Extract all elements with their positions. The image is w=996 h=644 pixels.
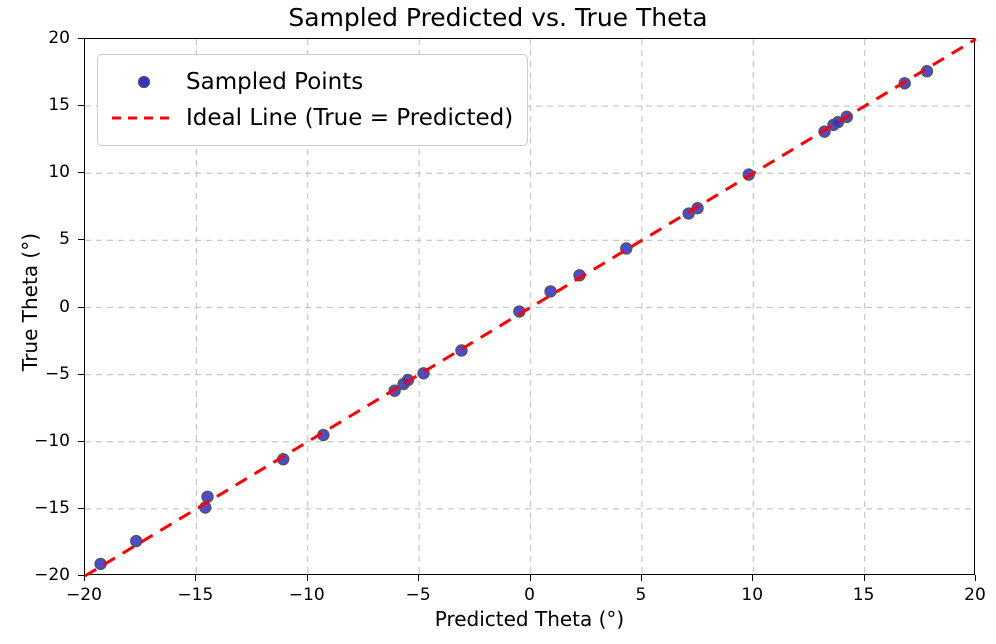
x-tick-label: −10: [289, 585, 325, 605]
x-tick-label: 10: [741, 585, 763, 605]
x-axis-label: Predicted Theta (°): [84, 607, 975, 631]
x-tick-label: 20: [964, 585, 986, 605]
data-point: [545, 286, 556, 297]
legend-item-sampled-points[interactable]: Sampled Points: [108, 64, 513, 100]
y-tick-mark: [78, 575, 84, 576]
chart-figure: Sampled Predicted vs. True Theta True Th…: [0, 0, 996, 644]
chart-legend[interactable]: Sampled Points Ideal Line (True = Predic…: [97, 54, 528, 146]
chart-title: Sampled Predicted vs. True Theta: [0, 3, 996, 32]
y-tick-label: −10: [18, 431, 70, 451]
legend-item-ideal-line[interactable]: Ideal Line (True = Predicted): [108, 100, 513, 136]
x-tick-label: 0: [524, 585, 535, 605]
x-tick-label: 5: [635, 585, 646, 605]
legend-label-ideal-line: Ideal Line (True = Predicted): [180, 105, 513, 131]
legend-label-sampled-points: Sampled Points: [180, 69, 363, 95]
y-tick-label: −20: [18, 565, 70, 585]
legend-dashed-line-icon: [108, 111, 180, 125]
y-tick-label: −15: [18, 498, 70, 518]
y-tick-label: 5: [18, 229, 70, 249]
x-tick-label: −20: [66, 585, 102, 605]
legend-marker-icon: [108, 71, 180, 93]
x-tick-label: 15: [853, 585, 875, 605]
y-tick-label: 20: [18, 28, 70, 48]
x-tick-label: −5: [406, 585, 431, 605]
y-tick-label: 0: [18, 297, 70, 317]
y-tick-label: 15: [18, 95, 70, 115]
x-tick-label: −15: [177, 585, 213, 605]
y-tick-label: 10: [18, 162, 70, 182]
y-tick-label: −5: [18, 364, 70, 384]
data-point: [131, 536, 142, 547]
plot-area: Sampled Points Ideal Line (True = Predic…: [84, 38, 975, 575]
